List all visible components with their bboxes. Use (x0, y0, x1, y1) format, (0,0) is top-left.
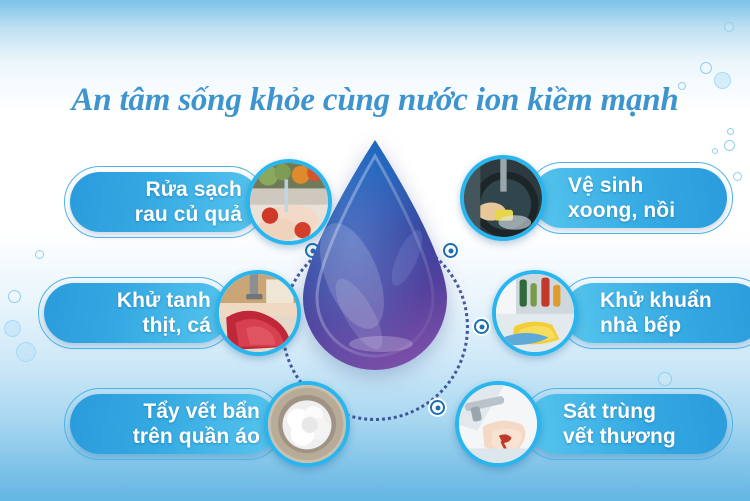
benefit-label: Rửa sạch rau củ quả (88, 177, 242, 227)
bubble-decoration-icon (35, 250, 44, 259)
benefit-pill[interactable]: Khử khuẩn nhà bếp (564, 283, 750, 343)
benefit-pill[interactable]: Vệ sinh xoong, nồi (532, 168, 727, 228)
benefit-label: Tẩy vết bẩn trên quần áo (88, 399, 260, 449)
orbit-node (474, 319, 489, 334)
benefit-pill[interactable]: Sát trùng vết thương (527, 394, 727, 454)
benefit-ve-sinh-xoong-noi[interactable]: Vệ sinh xoong, nồi (460, 162, 727, 234)
benefit-pill[interactable]: Rửa sạch rau củ quả (70, 172, 260, 232)
bubble-decoration-icon (16, 342, 36, 362)
laundry-foam-photo[interactable] (264, 381, 350, 467)
kitchen-gloves-photo[interactable] (492, 270, 578, 356)
raw-meat-photo[interactable] (215, 270, 301, 356)
benefit-sat-trung-vet-thuong[interactable]: Sát trùng vết thương (455, 388, 727, 460)
benefit-pill[interactable]: Khử tanh thịt, cá (44, 283, 229, 343)
bubble-decoration-icon (727, 128, 734, 135)
bubble-decoration-icon (4, 320, 21, 337)
benefit-khu-tanh-thit-ca[interactable]: Khử tanh thịt, cá (44, 277, 301, 349)
benefit-rua-sach-rau-cu-qua[interactable]: Rửa sạch rau củ quả (70, 166, 332, 238)
benefit-tay-vet-ban-tren-quan-ao[interactable]: Tẩy vết bẩn trên quần áo (70, 388, 350, 460)
benefit-pill[interactable]: Tẩy vết bẩn trên quần áo (70, 394, 278, 454)
bubble-decoration-icon (8, 290, 21, 303)
benefit-khu-khuan-nha-bep[interactable]: Khử khuẩn nhà bếp (492, 277, 750, 349)
page-title: An tâm sống khỏe cùng nước ion kiềm mạnh (0, 82, 750, 119)
benefit-label: Vệ sinh xoong, nồi (550, 173, 709, 223)
infographic-poster: An tâm sống khỏe cùng nước ion kiềm mạnh (0, 0, 750, 501)
bubble-decoration-icon (724, 22, 734, 32)
benefit-label: Khử tanh thịt, cá (62, 288, 211, 338)
orbit-node (430, 400, 445, 415)
bubble-decoration-icon (724, 140, 735, 151)
cleaning-pot-photo[interactable] (460, 155, 546, 241)
bubble-decoration-icon (700, 62, 712, 74)
wound-washing-photo[interactable] (455, 381, 541, 467)
benefit-label: Khử khuẩn nhà bếp (582, 288, 746, 338)
bubble-decoration-icon (712, 148, 718, 154)
benefit-label: Sát trùng vết thương (545, 399, 709, 449)
bubble-decoration-icon (658, 372, 672, 386)
bubble-decoration-icon (733, 172, 742, 181)
washing-vegetables-photo[interactable] (246, 159, 332, 245)
